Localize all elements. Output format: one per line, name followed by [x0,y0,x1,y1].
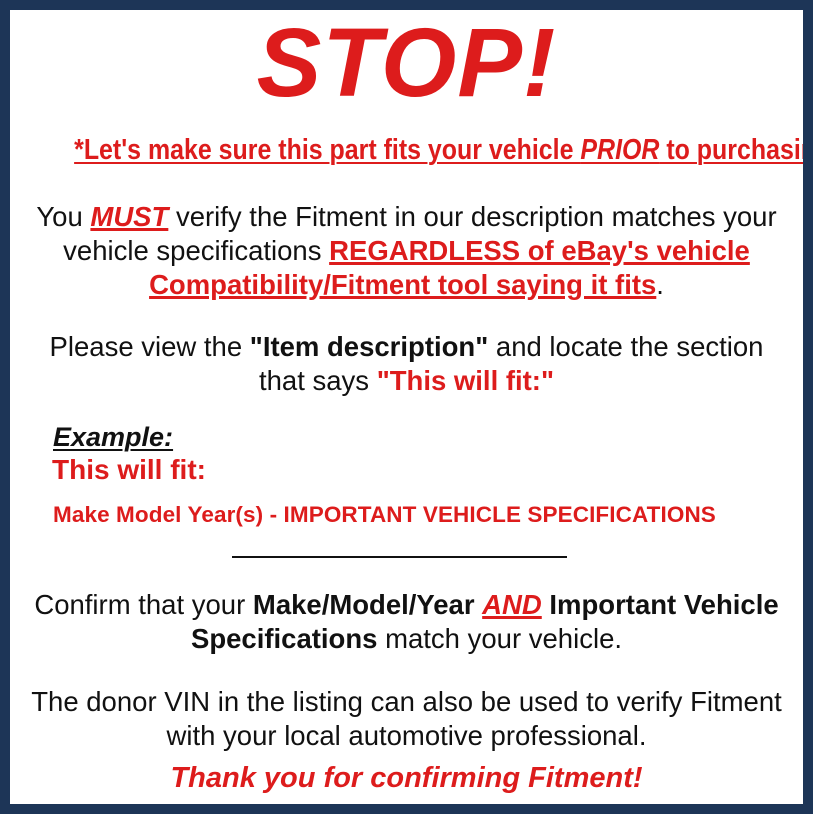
subtitle-prefix: *Let's make sure this part fits your veh… [74,134,580,166]
must-part3: . [656,269,664,300]
must-verify-paragraph: You MUST verify the Fitment in our descr… [24,200,789,302]
item-description-emphasis: "Item description" [250,331,488,362]
make-model-year-emphasis: Make/Model/Year [253,589,475,620]
example-spec-line: Make Model Year(s) - IMPORTANT VEHICLE S… [53,502,716,528]
subtitle-line: *Let's make sure this part fits your veh… [74,133,739,168]
subtitle-suffix: to purchasing* [659,134,813,166]
view-part1: Please view the [50,331,250,362]
must-part1: You [36,201,90,232]
thank-you-line: Thank you for confirming Fitment! [24,762,789,795]
must-emphasis: MUST [90,201,168,232]
confirm-paragraph: Confirm that your Make/Model/Year AND Im… [24,588,789,656]
this-will-fit-quote: "This will fit:" [377,365,554,396]
example-label: Example: [53,422,173,453]
confirm-part2: match your vehicle. [377,623,622,654]
confirm-part1: Confirm that your [34,589,253,620]
fitment-notice-card: STOP! *Let's make sure this part fits yo… [0,0,813,814]
and-emphasis: AND [482,589,542,620]
section-divider [232,556,567,558]
notice-canvas: STOP! *Let's make sure this part fits yo… [10,10,803,804]
page-title: STOP! [10,12,803,114]
donor-vin-paragraph: The donor VIN in the listing can also be… [24,685,789,753]
subtitle-emphasis-prior: PRIOR [580,134,659,166]
example-this-will-fit-heading: This will fit: [52,454,206,486]
item-description-paragraph: Please view the "Item description" and l… [24,330,789,398]
